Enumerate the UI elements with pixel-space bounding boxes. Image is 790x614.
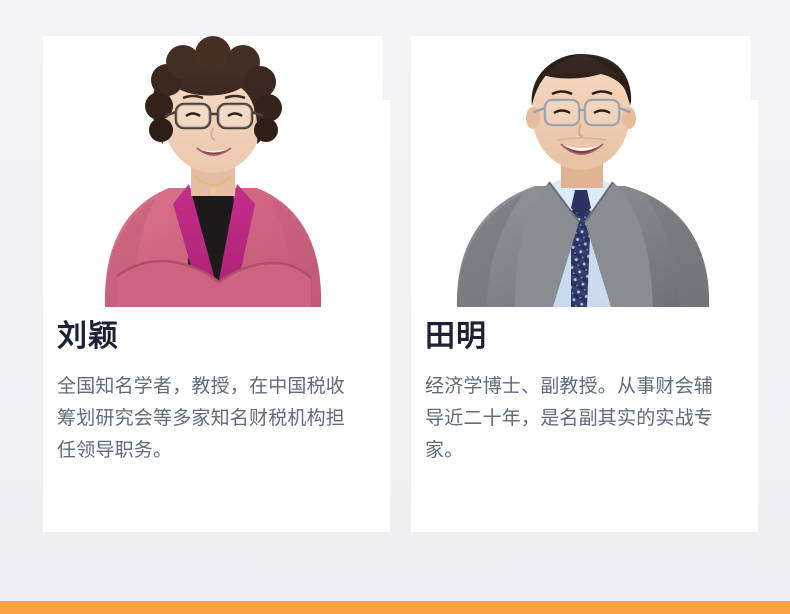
instructor-photo (411, 36, 751, 307)
instructor-name: 田明 (425, 320, 745, 353)
portrait-female-icon (43, 36, 383, 307)
instructor-card[interactable]: 田明 经济学博士、副教授。从事财会辅导近二十年，是名副其实的实战专家。 (411, 32, 758, 532)
portrait-male-icon (411, 36, 751, 307)
instructor-text-block: 田明 经济学博士、副教授。从事财会辅导近二十年，是名副其实的实战专家。 (425, 320, 745, 467)
instructor-photo (43, 36, 383, 307)
instructor-name: 刘颖 (57, 320, 377, 353)
instructor-bio: 经济学博士、副教授。从事财会辅导近二十年，是名副其实的实战专家。 (425, 371, 731, 467)
bottom-accent-bar (0, 601, 790, 614)
instructor-card-list: 刘颖 全国知名学者，教授，在中国税收筹划研究会等多家知名财税机构担任领导职务。 (0, 0, 790, 614)
instructor-bio: 全国知名学者，教授，在中国税收筹划研究会等多家知名财税机构担任领导职务。 (57, 371, 363, 467)
instructor-card[interactable]: 刘颖 全国知名学者，教授，在中国税收筹划研究会等多家知名财税机构担任领导职务。 (43, 32, 390, 532)
instructor-text-block: 刘颖 全国知名学者，教授，在中国税收筹划研究会等多家知名财税机构担任领导职务。 (57, 320, 377, 467)
